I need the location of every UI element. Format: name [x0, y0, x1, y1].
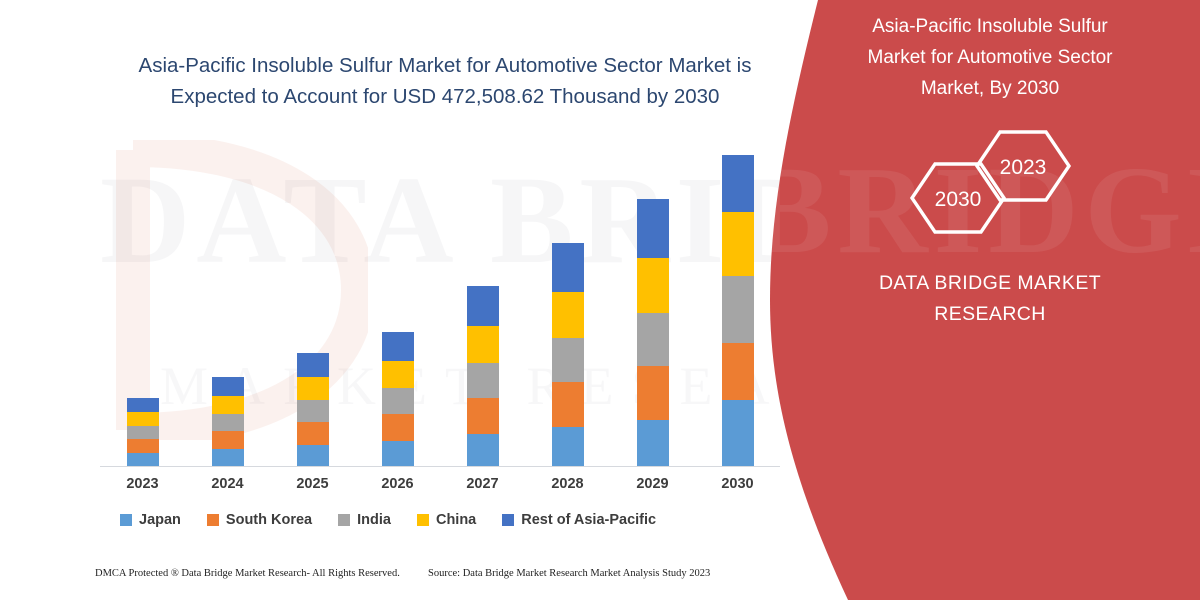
bar-segment: [552, 338, 584, 382]
hexagon-2030: 2030: [912, 164, 1004, 232]
panel-title-line-3: Market, By 2030: [921, 78, 1059, 99]
bar-segment: [552, 292, 584, 338]
bar-segment: [467, 363, 499, 398]
bar-segment: [552, 427, 584, 466]
bar-segment: [127, 398, 159, 412]
bar-segment: [297, 377, 329, 400]
x-axis-line: [100, 466, 780, 467]
bar-segment: [722, 276, 754, 343]
bar-column: [185, 140, 270, 466]
bar-segment: [382, 361, 414, 388]
bar-segment: [212, 414, 244, 431]
bar-segment: [722, 155, 754, 212]
legend-item[interactable]: China: [417, 512, 476, 528]
bar-column: [355, 140, 440, 466]
year-hexagon-group: 2023 2030: [850, 120, 1130, 240]
bar-segment: [382, 388, 414, 414]
bar-segment: [212, 377, 244, 396]
bar-segment: [127, 412, 159, 426]
legend-item[interactable]: India: [338, 512, 391, 528]
stacked-bar[interactable]: [552, 243, 584, 466]
footer-source: Source: Data Bridge Market Research Mark…: [428, 568, 710, 579]
legend-item[interactable]: South Korea: [207, 512, 312, 528]
legend-swatch-icon: [502, 514, 514, 526]
stacked-bar[interactable]: [382, 332, 414, 466]
bar-segment: [722, 212, 754, 276]
bar-segment: [467, 434, 499, 466]
bar-segment: [127, 453, 159, 466]
bar-segment: [212, 396, 244, 414]
bar-segment: [467, 398, 499, 434]
stacked-bar[interactable]: [637, 199, 669, 466]
legend-swatch-icon: [207, 514, 219, 526]
page-title: Asia-Pacific Insoluble Sulfur Market for…: [95, 50, 795, 112]
infographic-page: DATA BRIDGE MARKET RESEARCH Asia-Pacific…: [0, 0, 1200, 600]
bar-segment: [552, 243, 584, 292]
bar-segment: [127, 439, 159, 453]
legend-swatch-icon: [338, 514, 350, 526]
bar-column: [440, 140, 525, 466]
page-title-line-2: Expected to Account for USD 472,508.62 T…: [171, 85, 720, 108]
stacked-bar[interactable]: [467, 286, 499, 466]
stacked-bar[interactable]: [722, 155, 754, 466]
brand-name: DATA BRIDGE MARKET RESEARCH: [805, 268, 1175, 330]
bar-segment: [382, 441, 414, 466]
x-axis-tick-label: 2030: [695, 476, 780, 492]
x-axis-tick-label: 2025: [270, 476, 355, 492]
bar-segment: [467, 326, 499, 363]
brand-line-1: DATA BRIDGE MARKET: [879, 272, 1101, 294]
bar-segment: [297, 353, 329, 377]
legend-label: Rest of Asia-Pacific: [521, 512, 656, 528]
bar-segment: [552, 382, 584, 427]
brand-line-2: RESEARCH: [934, 303, 1046, 325]
legend-label: India: [357, 512, 391, 528]
bar-segment: [637, 258, 669, 313]
hexagon-2023: 2023: [977, 132, 1069, 200]
bar-segment: [297, 422, 329, 445]
bar-column: [610, 140, 695, 466]
legend-item[interactable]: Rest of Asia-Pacific: [502, 512, 656, 528]
legend-label: Japan: [139, 512, 181, 528]
bar-segment: [637, 366, 669, 420]
x-axis-labels: 20232024202520262027202820292030: [100, 476, 780, 492]
bar-segment: [722, 343, 754, 400]
x-axis-tick-label: 2024: [185, 476, 270, 492]
bar-column: [100, 140, 185, 466]
panel-title: Asia-Pacific Insoluble Sulfur Market for…: [805, 12, 1175, 104]
legend-label: South Korea: [226, 512, 312, 528]
legend-swatch-icon: [120, 514, 132, 526]
stacked-bar[interactable]: [212, 377, 244, 466]
bar-segment: [127, 426, 159, 439]
bar-segment: [382, 414, 414, 441]
stacked-bar-chart: [100, 140, 780, 467]
bar-segment: [297, 445, 329, 466]
panel-title-line-1: Asia-Pacific Insoluble Sulfur: [872, 16, 1108, 37]
legend-swatch-icon: [417, 514, 429, 526]
bar-segment: [297, 400, 329, 422]
bar-column: [270, 140, 355, 466]
bar-column: [695, 140, 780, 466]
footer-copyright: DMCA Protected ® Data Bridge Market Rese…: [95, 568, 400, 579]
brand-panel: BRIDGE Asia-Pacific Insoluble Sulfur Mar…: [770, 0, 1200, 600]
stacked-bar[interactable]: [297, 353, 329, 466]
hexagon-2023-label: 2023: [1000, 156, 1047, 179]
x-axis-tick-label: 2027: [440, 476, 525, 492]
legend-item[interactable]: Japan: [120, 512, 181, 528]
bar-segment: [382, 332, 414, 361]
bar-segment: [212, 431, 244, 449]
x-axis-tick-label: 2026: [355, 476, 440, 492]
bar-segment: [637, 313, 669, 366]
bar-column: [525, 140, 610, 466]
bar-segment: [212, 449, 244, 466]
bar-segment: [637, 199, 669, 258]
panel-title-line-2: Market for Automotive Sector: [868, 47, 1113, 68]
chart-legend: JapanSouth KoreaIndiaChinaRest of Asia-P…: [120, 512, 760, 528]
hexagon-2030-label: 2030: [935, 188, 982, 211]
legend-label: China: [436, 512, 476, 528]
x-axis-tick-label: 2028: [525, 476, 610, 492]
x-axis-tick-label: 2023: [100, 476, 185, 492]
stacked-bar[interactable]: [127, 398, 159, 466]
x-axis-tick-label: 2029: [610, 476, 695, 492]
bar-segment: [467, 286, 499, 326]
bar-segment: [722, 400, 754, 466]
bar-segment: [637, 420, 669, 466]
chart-bars: [100, 140, 780, 466]
page-title-line-1: Asia-Pacific Insoluble Sulfur Market for…: [139, 54, 752, 77]
